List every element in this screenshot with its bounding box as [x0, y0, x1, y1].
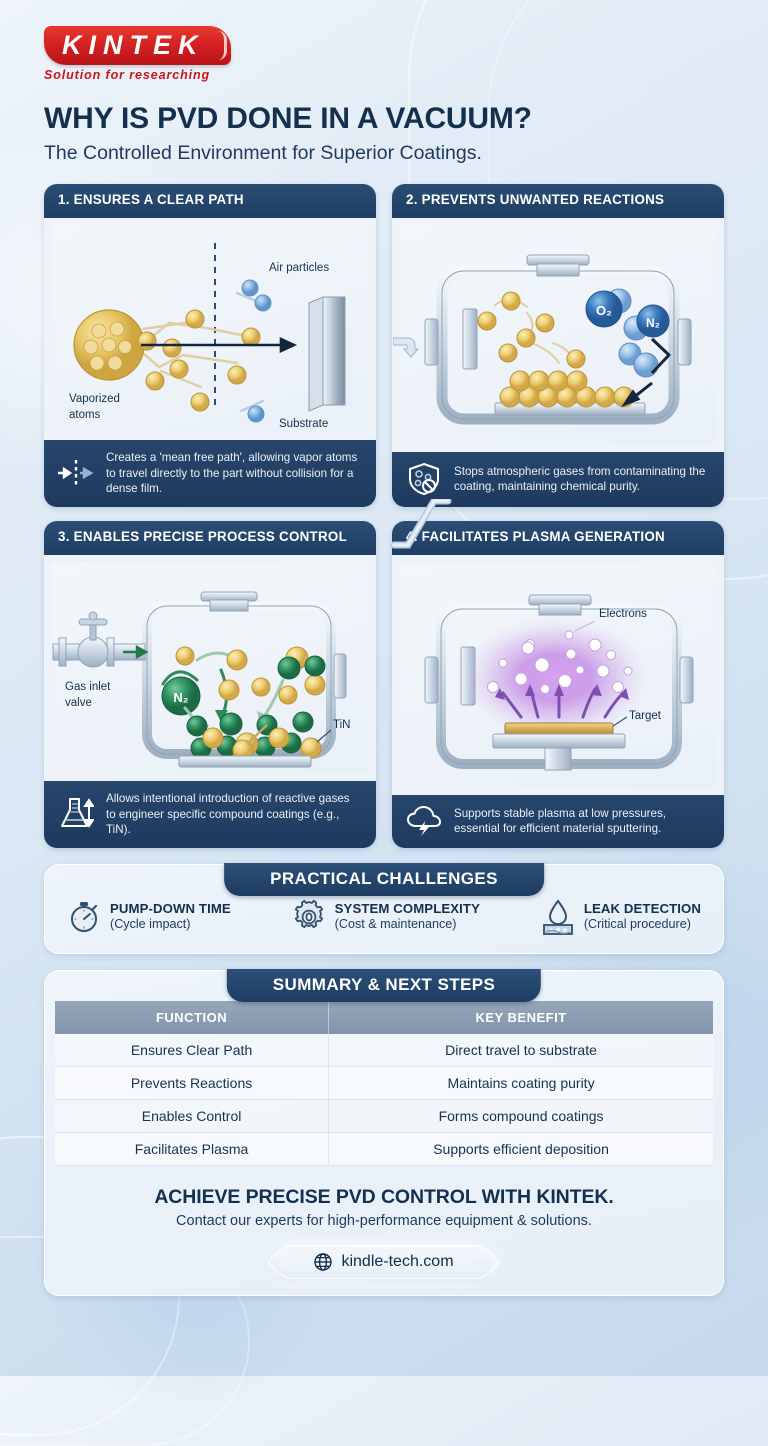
- challenge-system-complexity: SYSTEM COMPLEXITY (Cost & maintenance): [292, 900, 480, 934]
- call-to-action: ACHIEVE PRECISE PVD CONTROL WITH KINTEK.…: [55, 1186, 713, 1229]
- label-tin: TiN: [333, 719, 350, 731]
- cloud-lightning-icon: [404, 805, 444, 837]
- label-vaporized-1: Vaporized: [69, 393, 120, 405]
- challenge-0-title: PUMP-DOWN TIME: [110, 901, 231, 917]
- process-control-diagram: N₂: [51, 562, 369, 774]
- page-subtitle: The Controlled Environment for Superior …: [44, 142, 724, 165]
- cell-function: Prevents Reactions: [55, 1067, 329, 1100]
- challenge-1-sub: (Cost & maintenance): [335, 917, 480, 933]
- challenge-pump-down-time: PUMP-DOWN TIME (Cycle impact): [67, 900, 231, 934]
- logo-wordmark: KINTEK: [62, 31, 205, 59]
- panel-ensures-clear-path[interactable]: 1. ENSURES A CLEAR PATH: [44, 184, 376, 507]
- label-electrons: Electrons: [599, 608, 647, 620]
- panel-1-caption-bar: Creates a 'mean free path', allowing vap…: [44, 440, 376, 507]
- cell-function: Ensures Clear Path: [55, 1034, 329, 1067]
- droplet-leak-icon: [541, 899, 575, 935]
- cell-benefit: Forms compound coatings: [329, 1100, 713, 1133]
- summary-section: FUNCTION KEY BENEFIT Ensures Clear Path …: [44, 970, 724, 1296]
- panel-2-figure: O₂ N₂: [399, 225, 717, 445]
- arrow-through-dashed-line-icon: [56, 458, 96, 488]
- panel-facilitates-plasma-generation[interactable]: 4. FACILITATES PLASMA GENERATION: [392, 521, 724, 848]
- challenge-1-title: SYSTEM COMPLEXITY: [335, 901, 480, 917]
- logo-tagline: Solution for researching: [44, 68, 724, 82]
- table-col-function: FUNCTION: [55, 1001, 329, 1034]
- panel-1-figure: Air particles Vaporized atoms Substrate: [51, 225, 369, 433]
- challenge-2-title: LEAK DETECTION: [584, 901, 701, 917]
- challenge-0-sub: (Cycle impact): [110, 917, 231, 933]
- table-col-key-benefit: KEY BENEFIT: [329, 1001, 713, 1034]
- panel-1-title: 1. ENSURES A CLEAR PATH: [44, 184, 376, 218]
- stopwatch-icon: [67, 900, 101, 934]
- label-o2: O₂: [596, 303, 612, 318]
- panel-3-figure: N₂: [51, 562, 369, 774]
- plasma-generation-diagram: Target Electrons: [399, 569, 717, 781]
- connector-arrow-1-2: [393, 336, 419, 370]
- panel-4-caption-bar: Supports stable plasma at low pressures,…: [392, 795, 724, 848]
- globe-icon: [314, 1253, 332, 1271]
- shield-no-entry-icon: [404, 462, 444, 496]
- challenge-leak-detection: LEAK DETECTION (Critical procedure): [541, 899, 701, 935]
- cell-benefit: Supports efficient deposition: [329, 1133, 713, 1166]
- label-air-particles: Air particles: [269, 262, 329, 274]
- logo-badge: KINTEK: [44, 26, 231, 65]
- summary-table: FUNCTION KEY BENEFIT Ensures Clear Path …: [55, 1001, 713, 1166]
- label-vaporized-2: atoms: [69, 409, 101, 421]
- label-gas-inlet-2: valve: [65, 697, 92, 709]
- panel-2-title: 2. PREVENTS UNWANTED REACTIONS: [392, 184, 724, 218]
- practical-challenges-tab-label: PRACTICAL CHALLENGES: [224, 863, 544, 896]
- panel-1-caption: Creates a 'mean free path', allowing vap…: [106, 450, 364, 496]
- cell-benefit: Direct travel to substrate: [329, 1034, 713, 1067]
- practical-challenges-section: PUMP-DOWN TIME (Cycle impact) SYSTEM COM…: [44, 864, 724, 954]
- panel-3-caption-bar: Allows intentional introduction of react…: [44, 781, 376, 848]
- challenge-2-sub: (Critical procedure): [584, 917, 701, 933]
- website-url-text: kindle-tech.com: [341, 1253, 453, 1271]
- label-gas-inlet-1: Gas inlet: [65, 681, 111, 693]
- panel-3-title: 3. ENABLES PRECISE PROCESS CONTROL: [44, 521, 376, 555]
- table-row: Ensures Clear Path Direct travel to subs…: [55, 1034, 713, 1067]
- table-row: Facilitates Plasma Supports efficient de…: [55, 1133, 713, 1166]
- panel-4-caption: Supports stable plasma at low pressures,…: [454, 806, 712, 837]
- cell-benefit: Maintains coating purity: [329, 1067, 713, 1100]
- cta-subtitle: Contact our experts for high-performance…: [55, 1213, 713, 1229]
- table-row: Enables Control Forms compound coatings: [55, 1100, 713, 1133]
- connector-arrow-2-3: [374, 499, 482, 553]
- panel-2-caption: Stops atmospheric gases from contaminati…: [454, 464, 712, 495]
- website-url-chip[interactable]: kindle-tech.com: [279, 1245, 488, 1279]
- panel-4-figure: Target Electrons: [399, 562, 717, 788]
- page-title: WHY IS PVD DONE IN A VACUUM?: [44, 102, 724, 135]
- panel-3-caption: Allows intentional introduction of react…: [106, 791, 364, 837]
- brand-logo: KINTEK Solution for researching: [44, 0, 724, 82]
- summary-tab-label: SUMMARY & NEXT STEPS: [227, 969, 541, 1002]
- gear-icon: [292, 900, 326, 934]
- cell-function: Enables Control: [55, 1100, 329, 1133]
- label-n2-inlet: N₂: [173, 690, 188, 705]
- panels-grid: 1. ENSURES A CLEAR PATH: [44, 184, 724, 848]
- panel-prevents-unwanted-reactions[interactable]: 2. PREVENTS UNWANTED REACTIONS: [392, 184, 724, 507]
- table-header-row: FUNCTION KEY BENEFIT: [55, 1001, 713, 1034]
- cta-title: ACHIEVE PRECISE PVD CONTROL WITH KINTEK.: [55, 1186, 713, 1209]
- label-target: Target: [629, 710, 662, 722]
- flask-arrow-icon: [56, 796, 96, 832]
- label-substrate: Substrate: [279, 418, 328, 430]
- panel-enables-precise-process-control[interactable]: 3. ENABLES PRECISE PROCESS CONTROL: [44, 521, 376, 848]
- clear-path-diagram: Air particles Vaporized atoms Substrate: [51, 225, 369, 433]
- prevents-reactions-diagram: O₂ N₂: [399, 231, 717, 439]
- label-n2: N₂: [646, 316, 660, 330]
- cell-function: Facilitates Plasma: [55, 1133, 329, 1166]
- table-row: Prevents Reactions Maintains coating pur…: [55, 1067, 713, 1100]
